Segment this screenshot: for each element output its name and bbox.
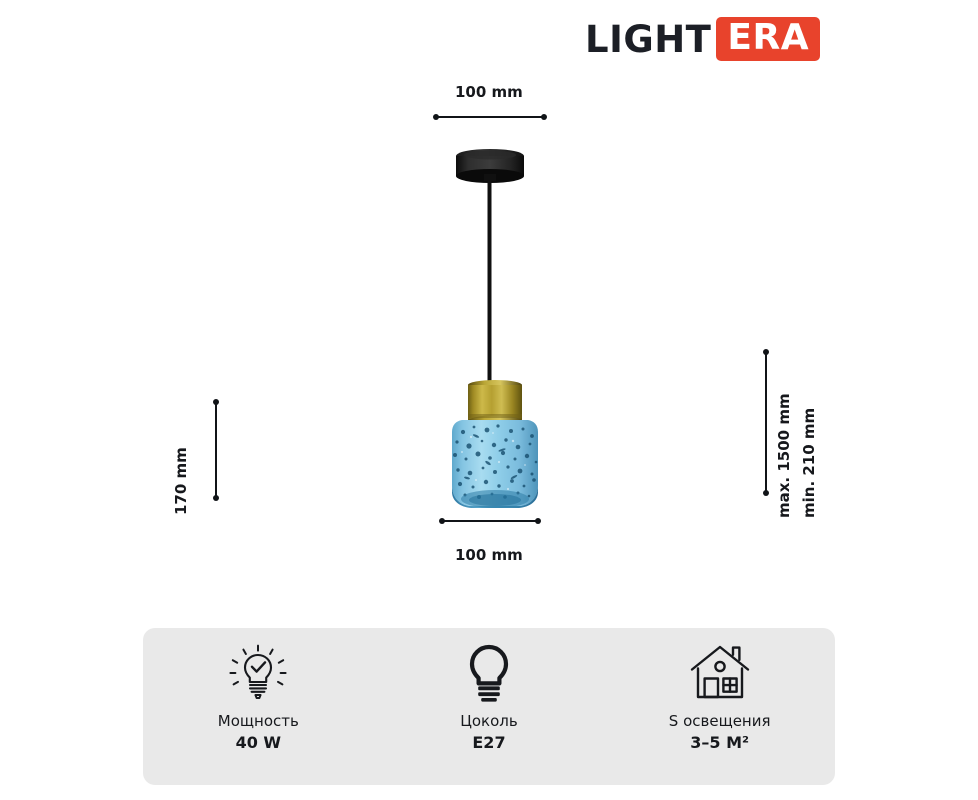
- spec-item-area: S освещения 3–5 M²: [620, 641, 820, 773]
- glass-shade: [452, 420, 538, 508]
- brass-socket: [468, 380, 522, 427]
- dimension-line-top-width: [434, 116, 546, 118]
- house-icon: [688, 641, 752, 703]
- spec-title-area: S освещения: [669, 711, 771, 731]
- bulb-check-icon: [227, 641, 289, 703]
- suspension-cord: [488, 178, 492, 384]
- dimension-line-suspension: [765, 350, 767, 495]
- specification-panel: Мощность 40 W Цоколь E27: [143, 628, 835, 785]
- brand-logo-light-text: LIGHT: [585, 21, 711, 58]
- brand-logo: LIGHT ERA: [585, 17, 820, 61]
- spec-value-socket: E27: [472, 731, 505, 755]
- spec-value-power: 40 W: [236, 731, 281, 755]
- dimension-label-bottom-width: 100 mm: [455, 546, 523, 564]
- dimension-label-suspension-max: max. 1500 mm: [775, 393, 793, 518]
- shade-speckles: [453, 424, 537, 499]
- spec-title-socket: Цоколь: [460, 711, 518, 731]
- spec-title-power: Мощность: [218, 711, 299, 731]
- dimension-label-shade-height: 170 mm: [172, 447, 190, 515]
- ceiling-canopy: [456, 149, 524, 183]
- spec-item-power: Мощность 40 W: [158, 641, 358, 773]
- spec-item-socket: Цоколь E27: [389, 641, 589, 773]
- dimension-line-bottom-width: [440, 520, 540, 522]
- dimension-label-top-width: 100 mm: [455, 83, 523, 101]
- bulb-icon: [458, 641, 520, 703]
- spec-value-area: 3–5 M²: [690, 731, 749, 755]
- dimension-line-shade-height: [215, 400, 217, 500]
- brand-logo-era-text: ERA: [727, 20, 809, 56]
- dimension-label-suspension-min: min. 210 mm: [800, 408, 818, 518]
- brand-logo-era-badge: ERA: [716, 17, 820, 61]
